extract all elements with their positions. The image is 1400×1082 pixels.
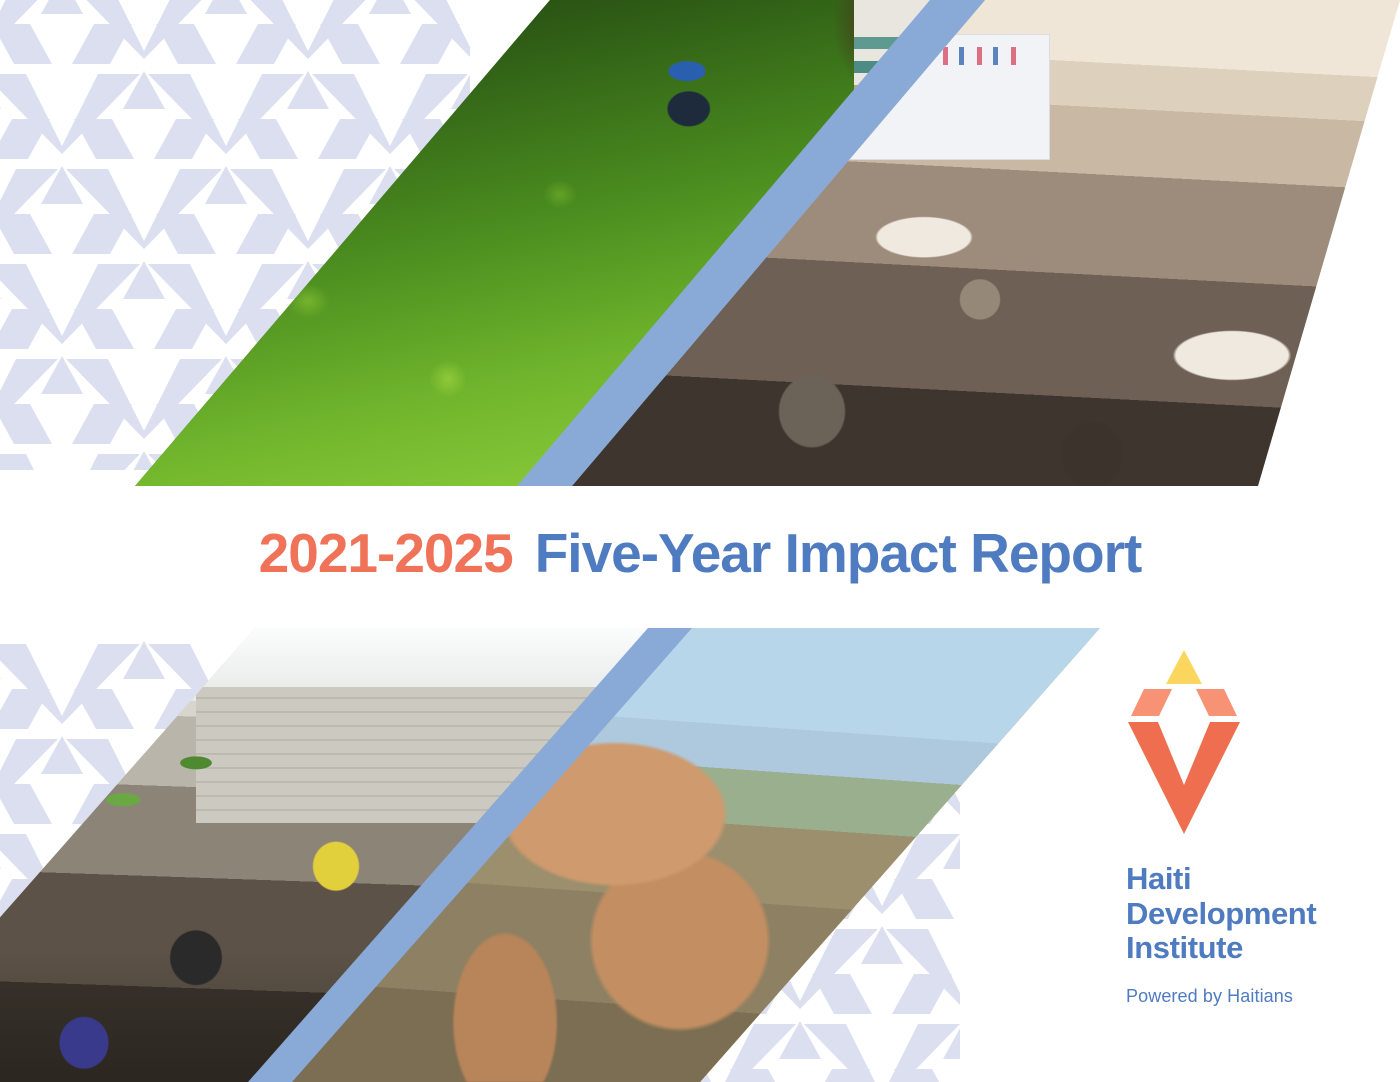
report-title-years: 2021-2025 bbox=[259, 526, 513, 581]
nursery-worker-crouching bbox=[644, 58, 730, 140]
report-title-main: Five-Year Impact Report bbox=[535, 526, 1142, 581]
brand-tagline: Powered by Haitians bbox=[1126, 986, 1376, 1007]
report-title: 2021-2025 Five-Year Impact Report bbox=[0, 478, 1400, 628]
brand-name-line-1: Haiti bbox=[1126, 862, 1376, 897]
brand-lockup: Haiti Development Institute Powered by H… bbox=[1126, 648, 1376, 1007]
brand-name-line-3: Institute bbox=[1126, 931, 1376, 966]
hdi-chevron-logo-icon bbox=[1126, 648, 1242, 838]
impact-report-cover: Haiti Funders Conference 2021-2025 Five-… bbox=[0, 0, 1400, 1082]
brand-name: Haiti Development Institute bbox=[1126, 862, 1376, 966]
brand-name-line-2: Development bbox=[1126, 897, 1376, 932]
top-photo-band: Haiti Funders Conference bbox=[0, 0, 1400, 486]
